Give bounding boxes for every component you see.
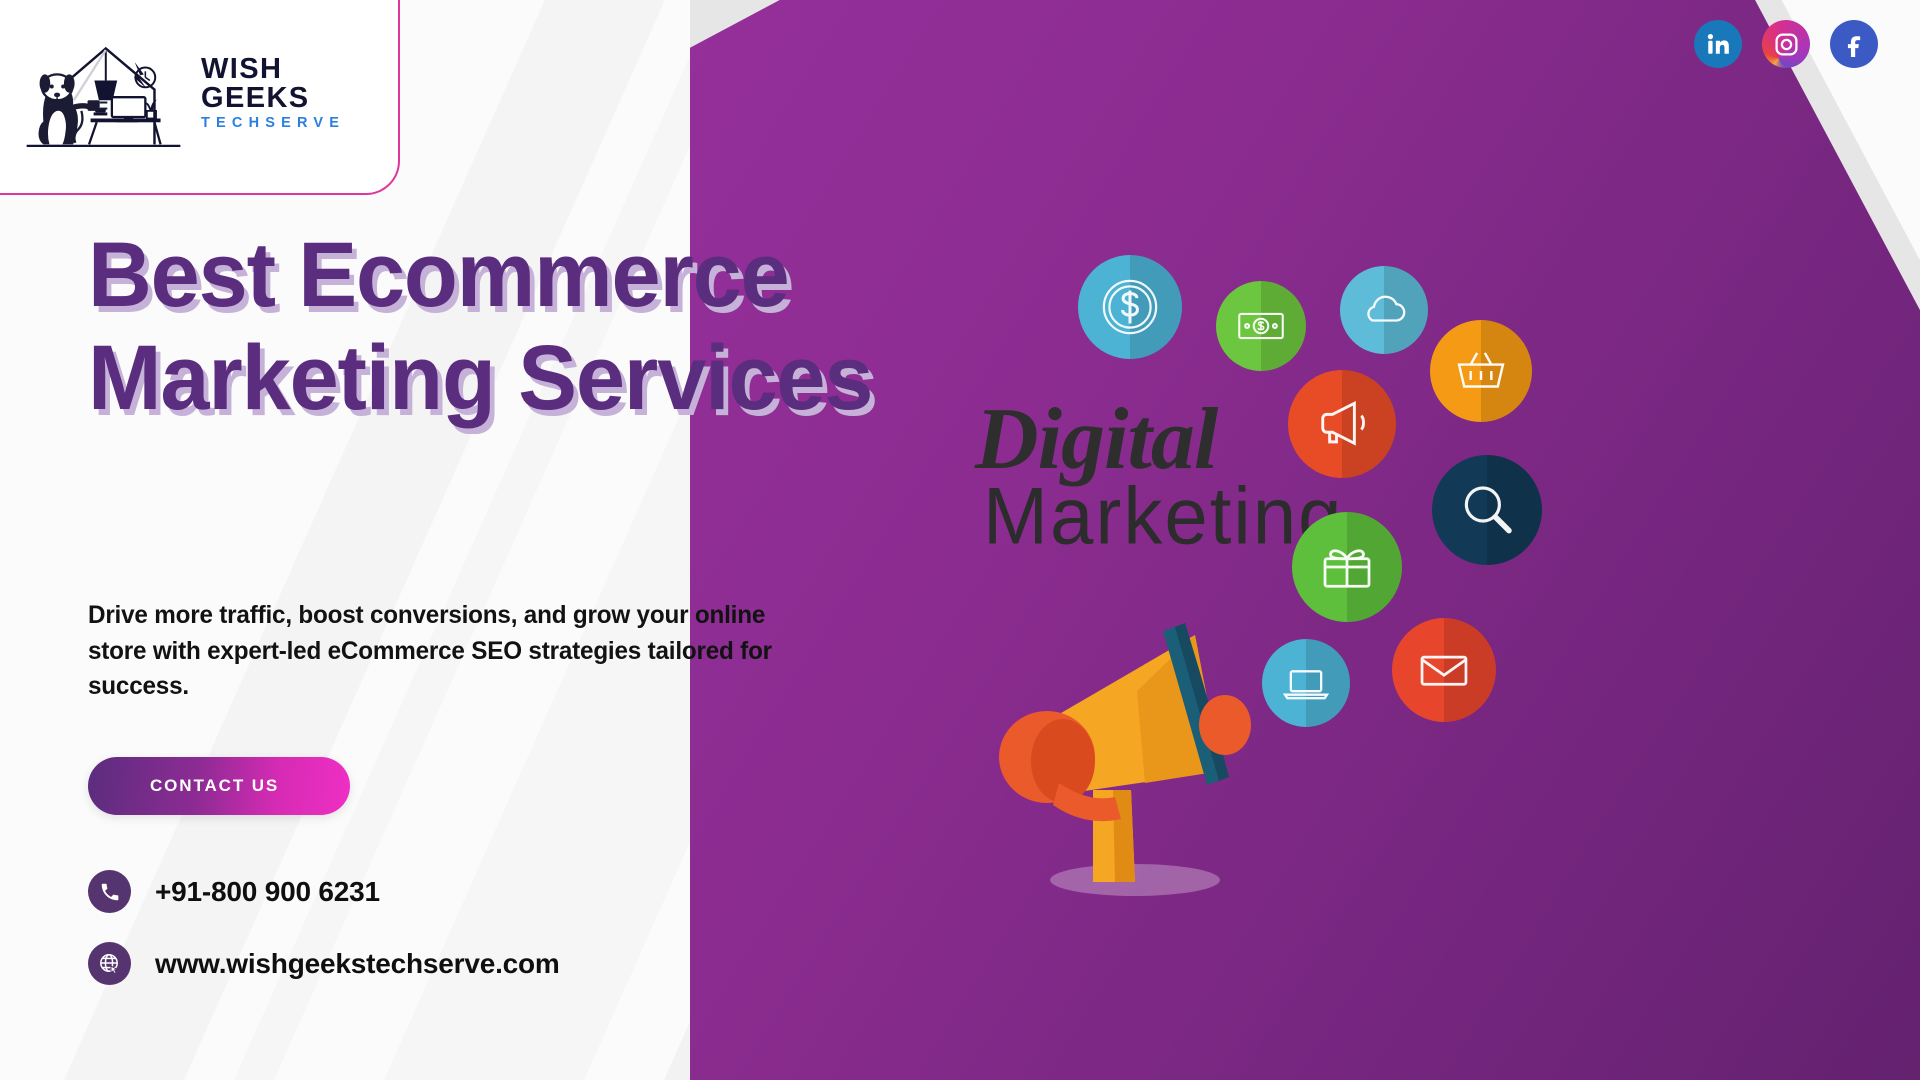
instagram-icon[interactable] [1762, 20, 1810, 68]
logo-card[interactable]: WISH GEEKS TECHSERVE [0, 0, 400, 195]
dog-desk-house-logo [16, 28, 191, 158]
gift-icon [1292, 512, 1402, 622]
shopping-basket-icon [1430, 320, 1532, 422]
website-url: www.wishgeekstechserve.com [155, 948, 560, 980]
phone-number: +91-800 900 6231 [155, 876, 380, 908]
contact-phone-row[interactable]: +91-800 900 6231 [88, 870, 380, 913]
logo-name-secondary: TECHSERVE [201, 116, 380, 131]
hero-subcopy: Drive more traffic, boost conversions, a… [88, 598, 777, 705]
globe-icon [88, 942, 131, 985]
cloud-icon [1340, 266, 1428, 354]
social-links [1694, 20, 1878, 68]
logo-name-primary: WISH GEEKS [201, 55, 380, 113]
page-title: Best Ecommerce Marketing Services [88, 224, 1010, 430]
facebook-icon[interactable] [1830, 20, 1878, 68]
headline-line-2: Marketing Services [88, 327, 1010, 430]
banner-canvas: WISH GEEKS TECHSERVE Best Ecommerce [0, 0, 1920, 1080]
megaphone-bubble-icon [1288, 370, 1396, 478]
marketing-sans-word: Marketing [983, 475, 1343, 556]
linkedin-icon[interactable] [1694, 20, 1742, 68]
megaphone-illustration [985, 575, 1315, 905]
contact-us-button[interactable]: CONTACT US [88, 757, 350, 815]
headline-line-1: Best Ecommerce [88, 224, 789, 326]
contact-website-row[interactable]: www.wishgeekstechserve.com [88, 942, 560, 985]
phone-icon [88, 870, 131, 913]
envelope-icon [1392, 618, 1496, 722]
laptop-icon [1262, 639, 1350, 727]
logo-wordmark: WISH GEEKS TECHSERVE [201, 55, 380, 131]
magnifier-icon [1432, 455, 1542, 565]
banknote-icon [1216, 281, 1306, 371]
dollar-coin-icon [1078, 255, 1182, 359]
